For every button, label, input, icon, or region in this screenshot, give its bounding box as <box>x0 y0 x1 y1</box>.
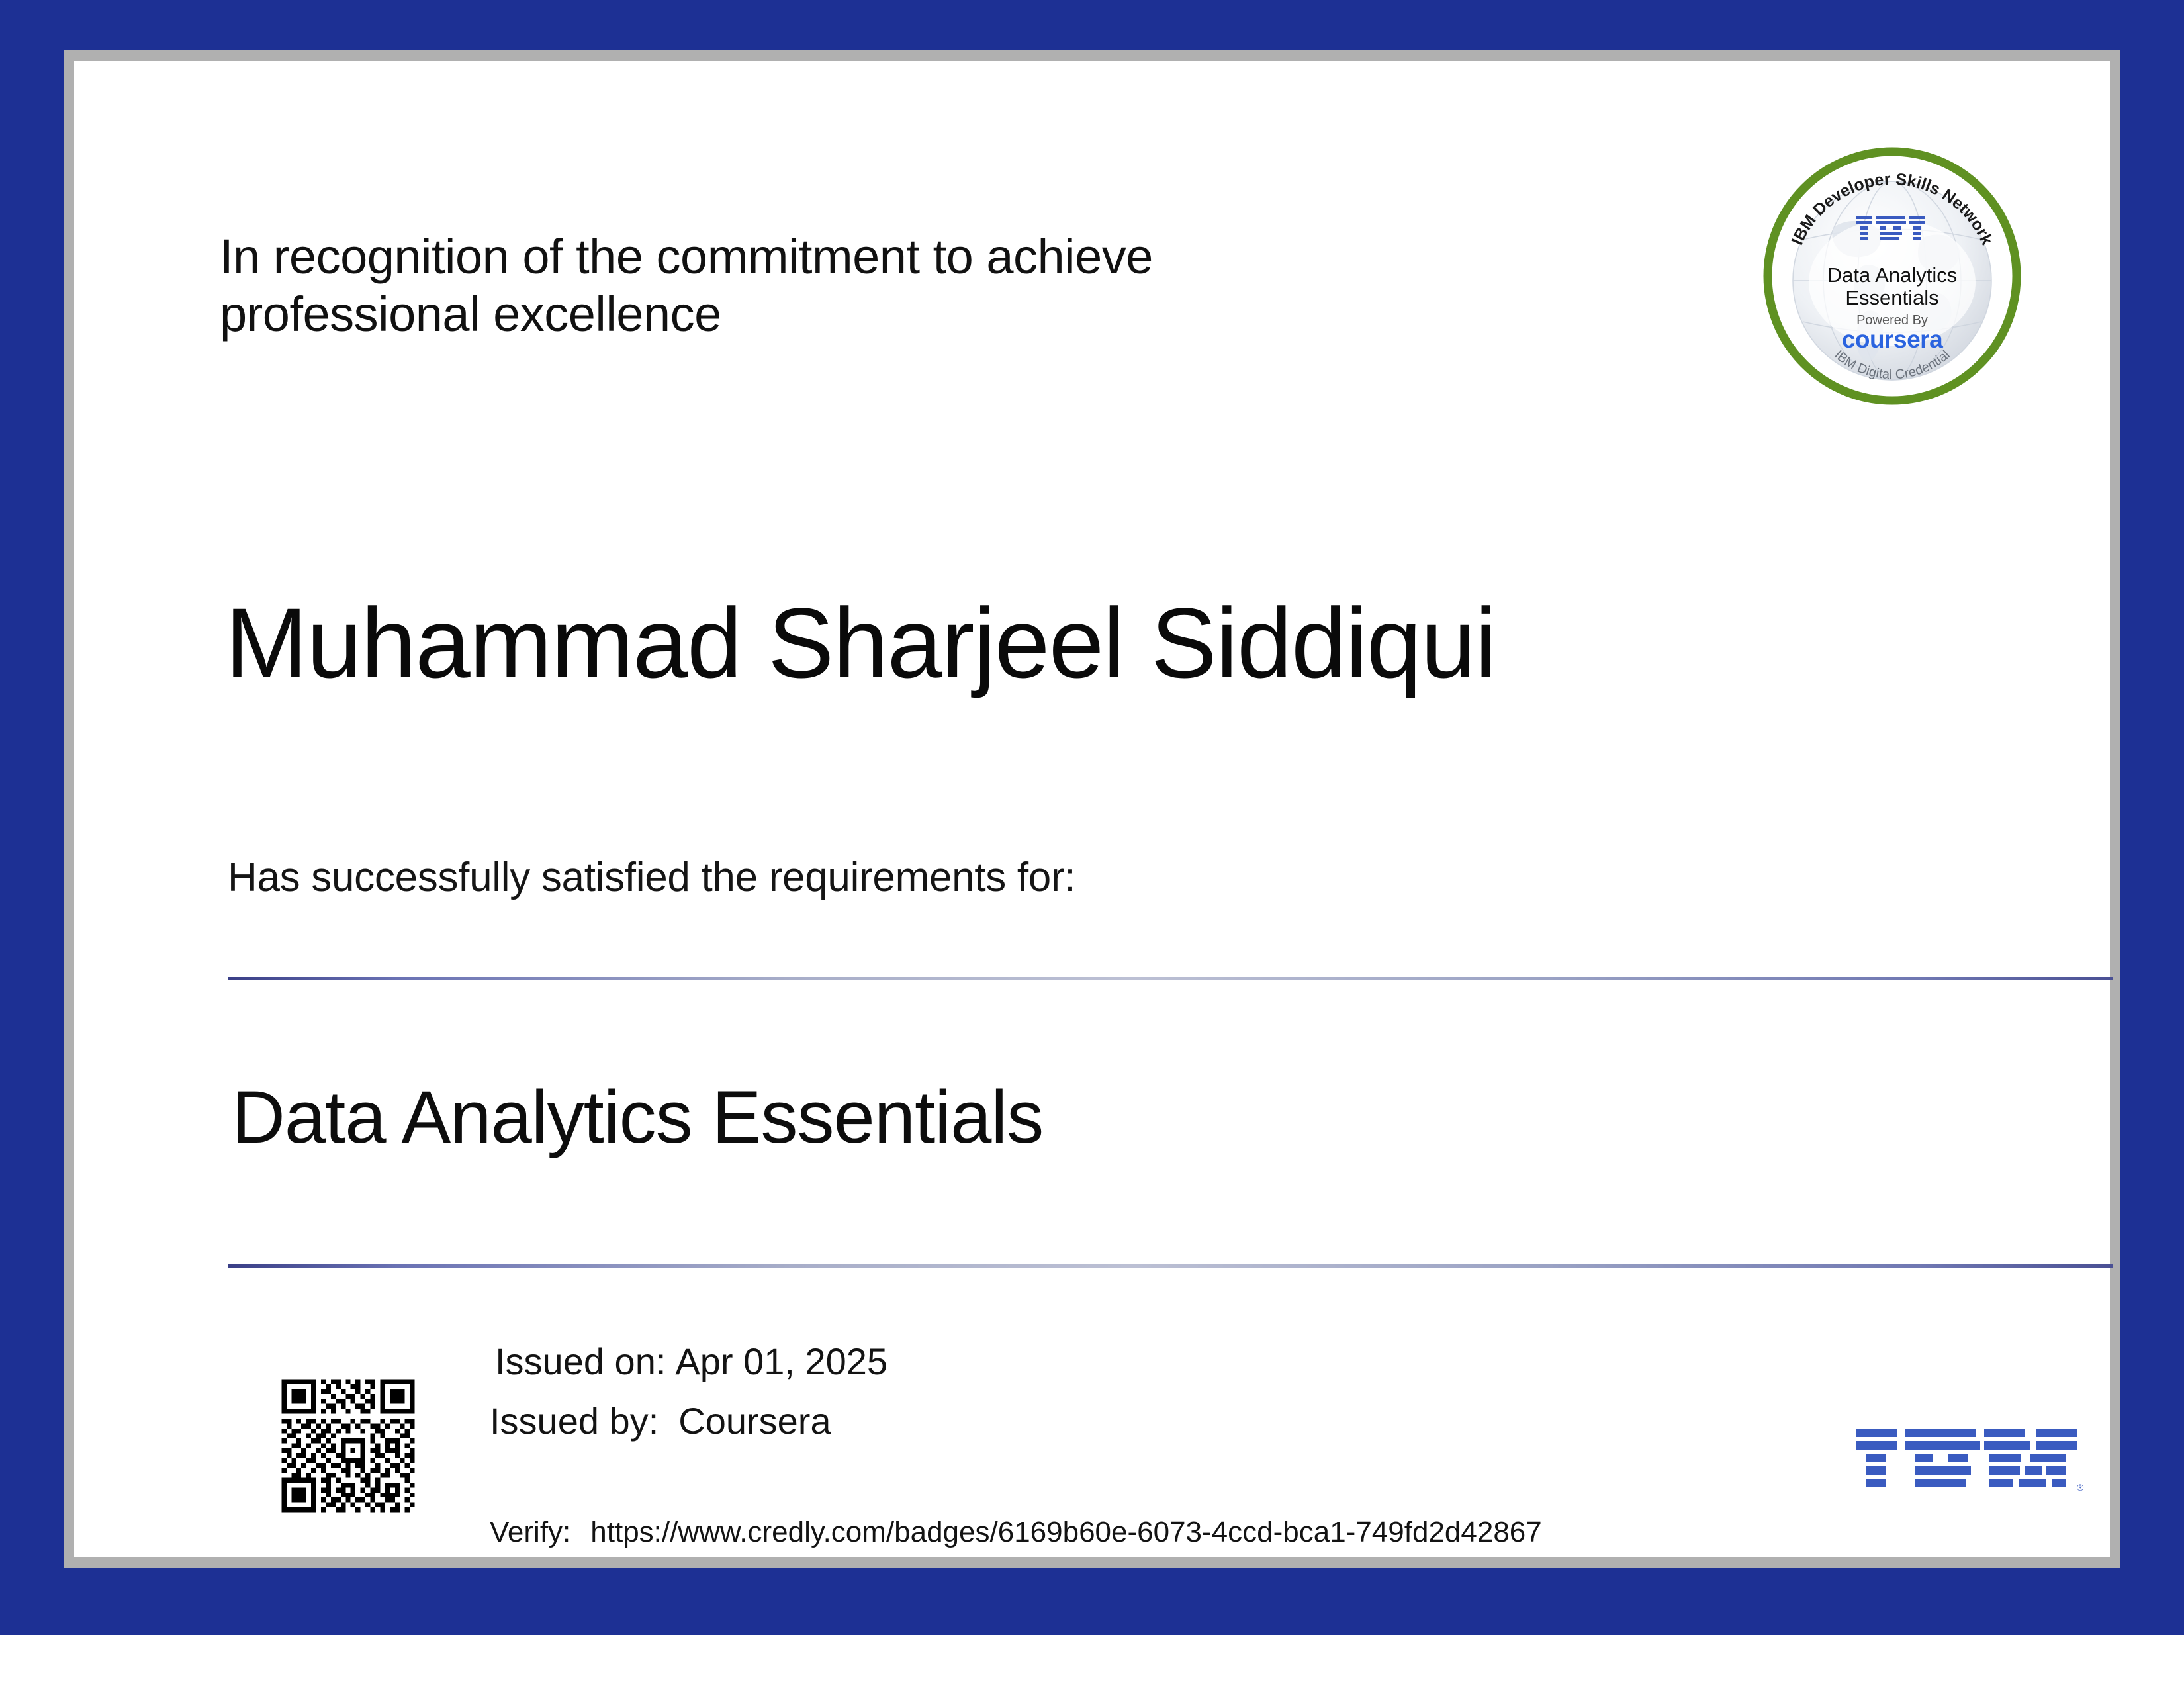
verify-row: Verify:https://www.credly.com/badges/616… <box>490 1516 1542 1549</box>
issued-on-row: Issued on:Apr 01, 2025 <box>495 1340 887 1383</box>
credential-badge: Data Analytics Essentials Powered By cou… <box>1763 147 2021 405</box>
divider-above-course <box>228 977 2113 980</box>
ibm-logo: ® <box>1854 1425 2093 1511</box>
issued-by-value: Coursera <box>678 1400 831 1442</box>
badge-title-line-1: Data Analytics <box>1827 263 1957 287</box>
badge-title-line-2: Essentials <box>1845 286 1938 309</box>
issued-on-value: Apr 01, 2025 <box>675 1340 887 1382</box>
issued-on-label: Issued on: <box>495 1340 666 1382</box>
qr-code[interactable] <box>277 1374 420 1517</box>
recognition-heading: In recognition of the commitment to achi… <box>220 228 1583 344</box>
svg-text:®: ® <box>2077 1482 2084 1493</box>
course-title: Data Analytics Essentials <box>232 1076 1043 1158</box>
requirements-statement: Has successfully satisfied the requireme… <box>228 854 1075 901</box>
issued-by-label: Issued by: <box>490 1400 659 1442</box>
badge-provider: coursera <box>1842 326 1943 353</box>
divider-below-course <box>228 1264 2113 1268</box>
certificate-page: In recognition of the commitment to achi… <box>0 0 2184 1688</box>
verify-url-link[interactable]: https://www.credly.com/badges/6169b60e-6… <box>590 1516 1541 1548</box>
verify-label: Verify: <box>490 1516 570 1548</box>
recipient-name: Muhammad Sharjeel Siddiqui <box>225 590 1496 696</box>
issued-by-row: Issued by:Coursera <box>490 1399 831 1442</box>
